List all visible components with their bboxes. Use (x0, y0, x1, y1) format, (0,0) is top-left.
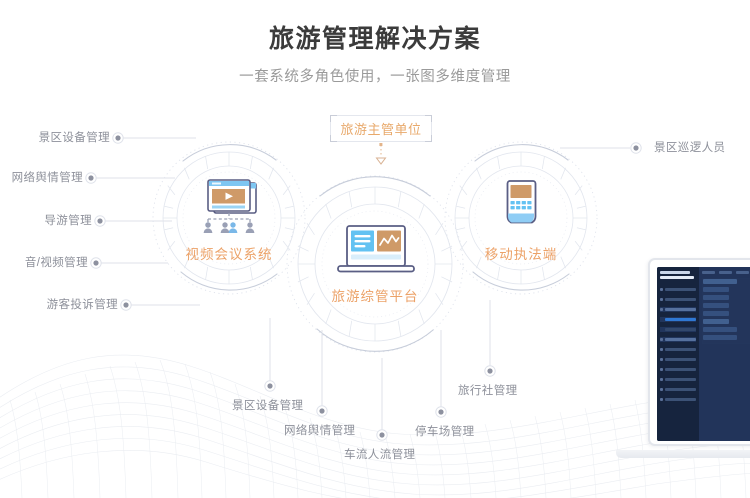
corner-bracket-top-left (330, 115, 337, 122)
authority-unit-label: 旅游主管单位 (340, 119, 421, 138)
spoke-label-left-0[interactable]: 景区设备管理 (4, 131, 110, 145)
laptop-body (648, 258, 750, 446)
wireframe-mesh-background (0, 308, 750, 498)
page-title: 旅游管理解决方案 (0, 22, 750, 56)
spoke-dots-right (631, 143, 641, 153)
dashboard-nav-item[interactable] (660, 327, 696, 332)
node-label-tourism-platform: 旅游综管平台 (316, 285, 434, 305)
dashboard-nav-item[interactable] (660, 287, 696, 292)
dashboard-nav-item[interactable] (660, 387, 696, 392)
spoke-label-bottom-4[interactable]: 旅行社管理 (458, 384, 518, 398)
spoke-label-bottom-1[interactable]: 网络舆情管理 (284, 424, 355, 438)
spoke-lines-left (95, 138, 200, 305)
spoke-lines-bottom (270, 300, 490, 435)
dashboard-nav-item[interactable] (660, 347, 696, 352)
dashboard-nav-item[interactable] (660, 307, 696, 312)
spoke-label-left-3[interactable]: 音/视频管理 (0, 256, 88, 270)
dashboard-nav-item[interactable] (660, 377, 696, 382)
corner-bracket-bottom-right (425, 135, 432, 142)
spoke-label-bottom-2[interactable]: 车流人流管理 (344, 448, 415, 462)
dashboard-card[interactable] (702, 278, 750, 344)
laptop-mockup (648, 258, 750, 446)
dashboard-nav-item[interactable] (660, 337, 696, 342)
solution-diagram-page: 旅游管理解决方案 一套系统多角色使用，一张图多维度管理 (0, 0, 750, 498)
node-label-mobile-enforcement: 移动执法端 (460, 243, 582, 263)
dashboard-toolbar[interactable] (702, 271, 750, 274)
authority-connector-arrow (377, 143, 386, 164)
spoke-label-left-2[interactable]: 导游管理 (10, 214, 92, 228)
spoke-label-bottom-3[interactable]: 停车场管理 (415, 425, 475, 439)
spoke-label-bottom-0[interactable]: 景区设备管理 (232, 399, 303, 413)
spoke-label-right-0[interactable]: 景区巡逻人员 (654, 141, 725, 155)
mobile-device-icon[interactable] (492, 178, 550, 241)
dashboard-nav-item[interactable] (660, 317, 696, 322)
laptop-base (616, 450, 750, 458)
authority-unit-box[interactable]: 旅游主管单位 (330, 115, 432, 142)
spoke-dots-left (86, 133, 131, 310)
corner-bracket-top-right (425, 115, 432, 122)
page-header: 旅游管理解决方案 一套系统多角色使用，一张图多维度管理 (0, 22, 750, 87)
corner-bracket-bottom-left (330, 135, 337, 142)
dashboard-nav-item[interactable] (660, 397, 696, 402)
dashboard-sidebar[interactable] (657, 267, 699, 441)
dashboard-screen[interactable] (657, 267, 750, 441)
video-window-icon[interactable] (198, 178, 260, 241)
laptop-dashboard-icon[interactable] (336, 225, 416, 284)
spoke-label-left-1[interactable]: 网络舆情管理 (0, 171, 83, 185)
page-subtitle: 一套系统多角色使用，一张图多维度管理 (0, 67, 750, 87)
dashboard-nav-item[interactable] (660, 357, 696, 362)
node-label-video-conference: 视频会议系统 (168, 243, 290, 263)
dashboard-nav-item[interactable] (660, 297, 696, 302)
dashboard-nav-item[interactable] (660, 367, 696, 372)
spoke-label-left-4[interactable]: 游客投诉管理 (12, 298, 118, 312)
dashboard-content[interactable] (699, 267, 750, 441)
dashboard-logo (660, 271, 696, 282)
